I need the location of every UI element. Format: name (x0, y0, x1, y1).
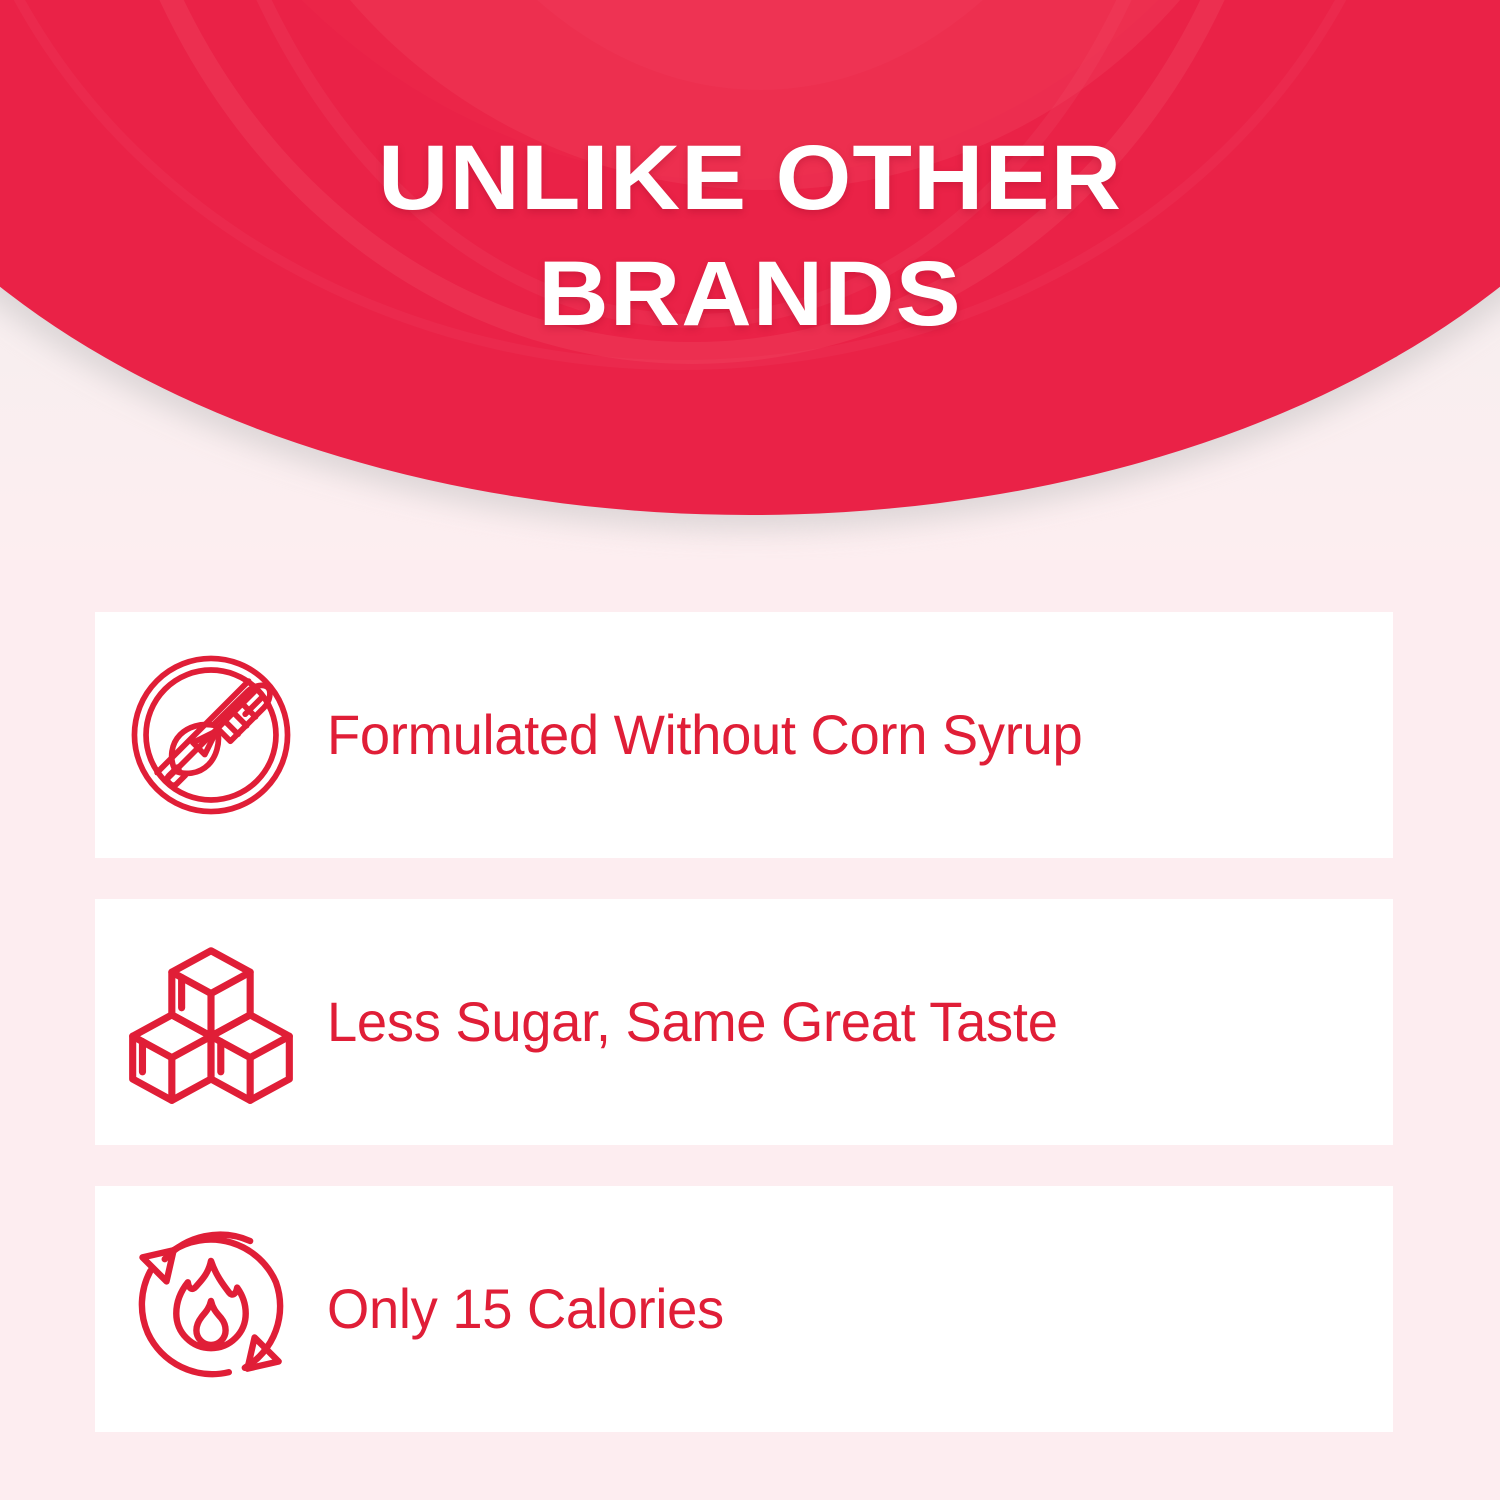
no-corn-syrup-icon (95, 612, 327, 858)
hero-banner: UNLIKE OTHER BRANDS (0, 0, 1500, 560)
feature-card: Formulated Without Corn Syrup (95, 612, 1393, 858)
feature-card-list: Formulated Without Corn Syrup (95, 612, 1393, 1432)
sugar-cubes-icon (95, 899, 327, 1145)
feature-card: Only 15 Calories (95, 1186, 1393, 1432)
infographic-page: UNLIKE OTHER BRANDS (0, 0, 1500, 1500)
feature-label: Only 15 Calories (327, 1278, 724, 1340)
page-title: UNLIKE OTHER BRANDS (0, 120, 1500, 352)
feature-card: Less Sugar, Same Great Taste (95, 899, 1393, 1145)
feature-label: Formulated Without Corn Syrup (327, 704, 1082, 766)
calorie-burn-icon (95, 1186, 327, 1432)
feature-label: Less Sugar, Same Great Taste (327, 991, 1058, 1053)
